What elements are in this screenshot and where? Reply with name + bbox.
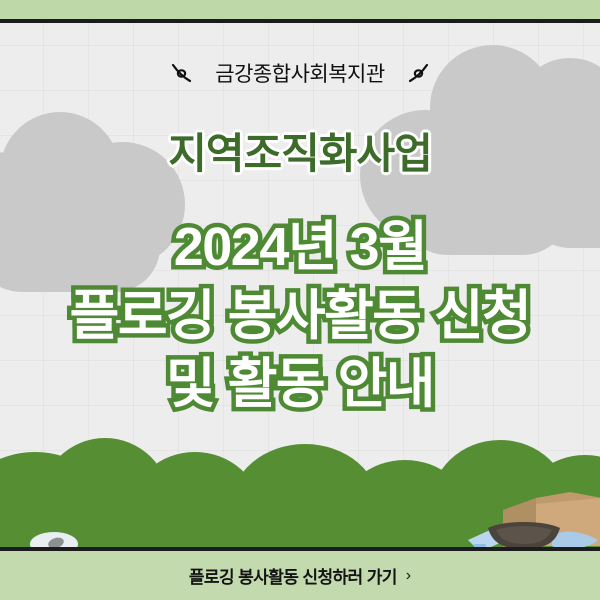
apply-link-label: 플로깅 봉사활동 신청하러 가기	[189, 563, 397, 588]
headline-line-2: 플로깅 봉사활동 신청	[0, 282, 600, 351]
headline-line-1: 2024년 3월	[0, 213, 600, 282]
headline-block: 2024년 3월 플로깅 봉사활동 신청 및 활동 안내	[0, 213, 600, 419]
organization-header: 금강종합사회복지관	[0, 58, 600, 88]
program-subtitle: 지역조직화사업	[0, 120, 600, 181]
swirl-flourish-right-icon	[405, 60, 431, 86]
poster-canvas: 금강종합사회복지관 지역조직화사업 2024년 3월 플로깅 봉사활동 신청 및…	[0, 0, 600, 600]
chevron-right-icon: ›	[406, 568, 411, 584]
top-green-band	[0, 0, 600, 19]
headline-line-3: 및 활동 안내	[0, 350, 600, 419]
apply-link-button[interactable]: 플로깅 봉사활동 신청하러 가기 ›	[0, 551, 600, 600]
organization-name: 금강종합사회복지관	[215, 58, 384, 88]
swirl-flourish-left-icon	[169, 60, 195, 86]
top-divider-rule	[0, 19, 600, 23]
